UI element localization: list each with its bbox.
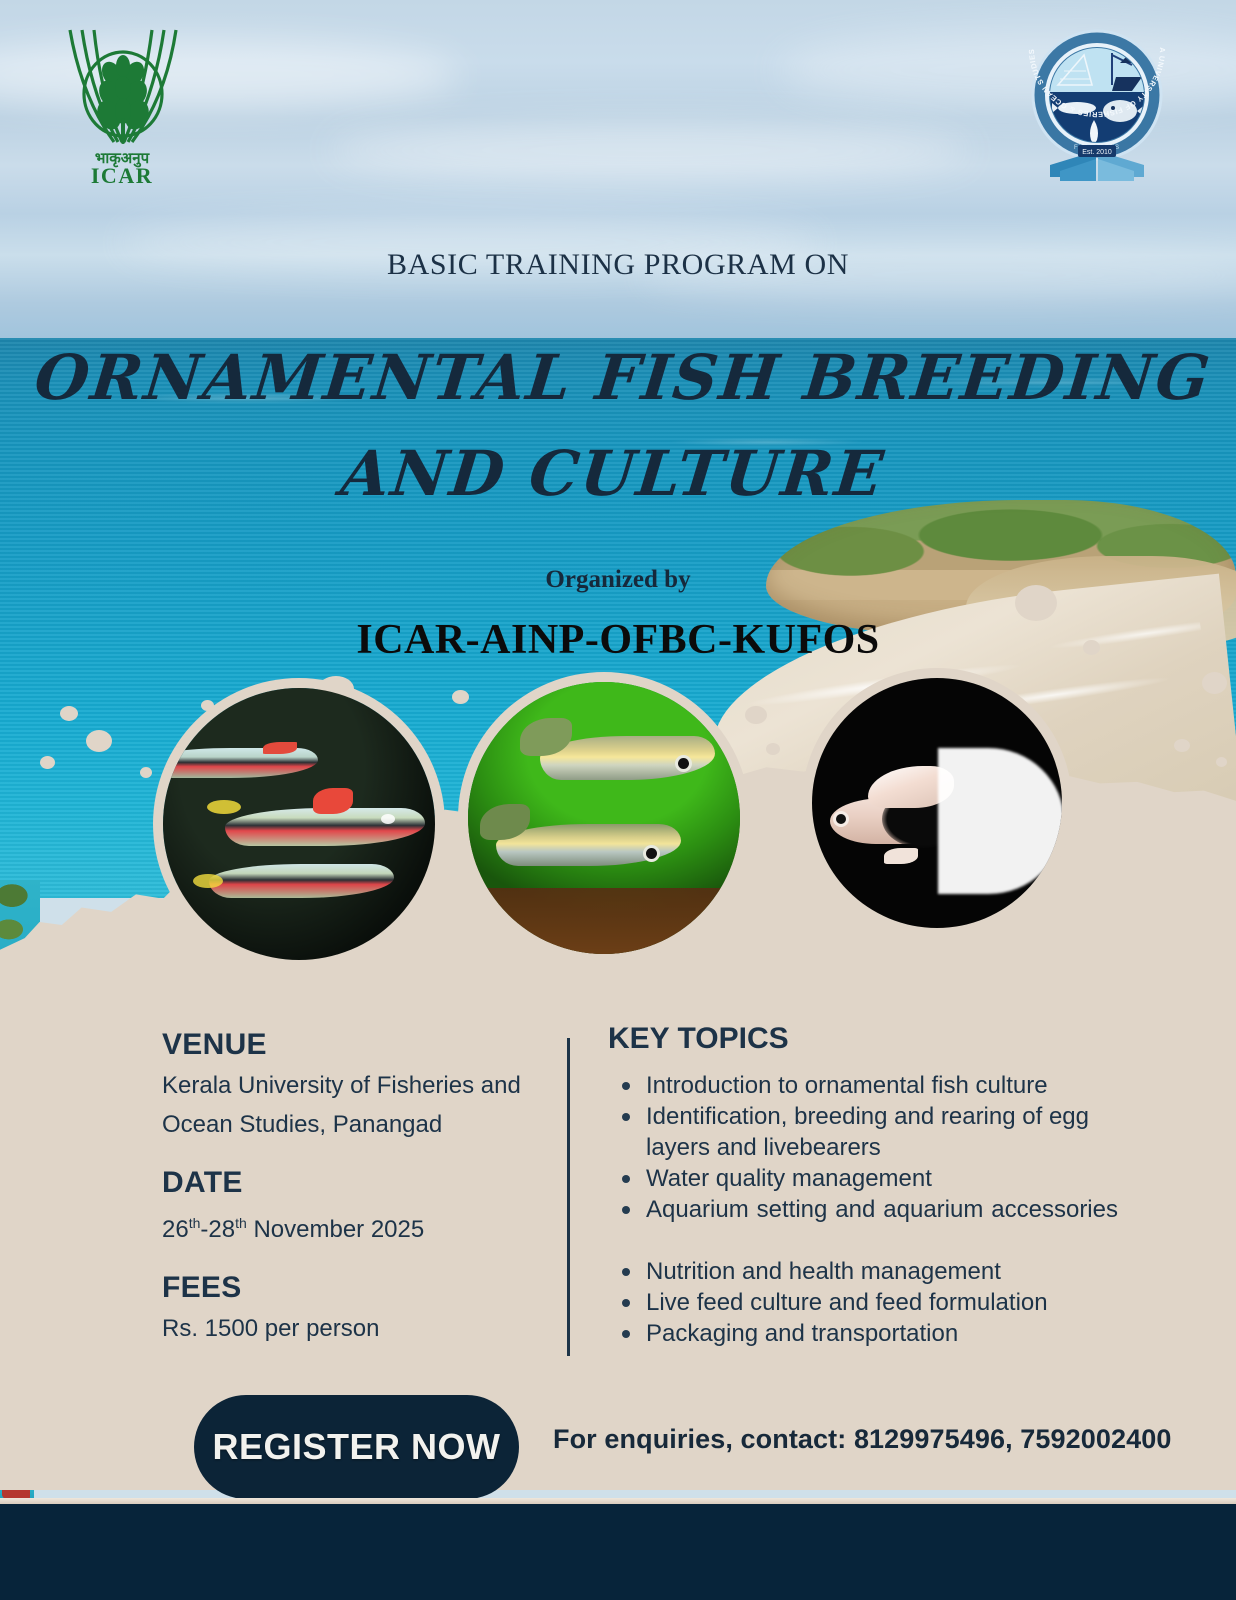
date-label: DATE	[162, 1166, 542, 1200]
paint-splatter-dot	[766, 743, 780, 755]
list-item: Aquarium setting and aquarium accessorie…	[608, 1194, 1118, 1256]
paint-splatter-dot	[1216, 757, 1227, 767]
paint-splatter-dot	[1174, 739, 1190, 752]
date-sup-start: th	[189, 1215, 201, 1231]
key-topics-title: KEY TOPICS	[608, 1022, 1118, 1056]
venue-label: VENUE	[162, 1028, 542, 1062]
key-topics-section: KEY TOPICS Introduction to ornamental fi…	[608, 1022, 1118, 1349]
list-item: Live feed culture and feed formulation	[608, 1287, 1118, 1318]
icar-acronym: ICAR	[91, 163, 153, 187]
bullet-icon	[622, 1175, 630, 1183]
venue-line-1: Kerala University of Fisheries and	[162, 1066, 542, 1105]
program-kicker: BASIC TRAINING PROGRAM ON	[0, 248, 1236, 282]
topic-text: Packaging and transportation	[646, 1320, 958, 1347]
title-line-1: ORNAMENTAL FISH BREEDING	[0, 330, 1236, 426]
list-item: Introduction to ornamental fish culture	[608, 1070, 1118, 1101]
bullet-icon	[622, 1299, 630, 1307]
paint-splatter-dot	[86, 730, 112, 752]
register-now-button[interactable]: REGISTER NOW	[194, 1395, 519, 1499]
paint-splatter-dot	[140, 767, 152, 778]
paint-splatter-dot	[60, 706, 78, 721]
page-title: ORNAMENTAL FISH BREEDING AND CULTURE	[0, 330, 1236, 522]
bullet-icon	[622, 1206, 630, 1214]
venue-value: Kerala University of Fisheries and Ocean…	[162, 1066, 542, 1144]
bullet-icon	[622, 1082, 630, 1090]
list-item: Water quality management	[608, 1163, 1118, 1194]
column-divider	[567, 1038, 570, 1356]
list-item: Identification, breeding and rearing of …	[608, 1101, 1118, 1163]
icar-logo: भाकृअनुप ICAR	[60, 22, 185, 187]
paint-splatter-dot	[745, 706, 767, 724]
footer-bar	[0, 1504, 1236, 1600]
enquiry-contact-text: For enquiries, contact: 8129975496, 7592…	[553, 1424, 1171, 1455]
topic-text: Identification, breeding and rearing of …	[646, 1103, 1089, 1161]
key-topics-list: Introduction to ornamental fish culture …	[608, 1070, 1118, 1349]
fish-photo-denison-barb	[163, 688, 435, 960]
bullet-icon	[622, 1330, 630, 1338]
topic-text: Water quality management	[646, 1165, 932, 1192]
topic-text: Aquarium setting and aquarium accessorie…	[646, 1194, 1118, 1256]
kufos-established: Est. 2010	[1082, 149, 1112, 156]
list-item: Packaging and transportation	[608, 1318, 1118, 1349]
organized-by-label: Organized by	[0, 566, 1236, 594]
paint-splatter-dot	[40, 756, 55, 769]
cloud	[330, 120, 970, 180]
fish-photo-guppy	[812, 678, 1062, 928]
fish-photo-white-cloud-minnow	[468, 682, 740, 954]
date-day-end: 28	[208, 1216, 235, 1243]
kufos-logo: KERALA UNIVERSITY OF FISHERIES & OCEAN S…	[1020, 25, 1175, 185]
paint-splatter-dot	[1202, 672, 1227, 694]
title-line-2: AND CULTURE	[0, 426, 1236, 522]
topic-text: Nutrition and health management	[646, 1258, 1001, 1285]
organizer-name: ICAR-AINP-OFBC-KUFOS	[0, 616, 1236, 664]
fees-label: FEES	[162, 1271, 542, 1305]
bullet-icon	[622, 1113, 630, 1121]
list-item: Nutrition and health management	[608, 1256, 1118, 1287]
date-sup-end: th	[235, 1215, 247, 1231]
date-month-year: November 2025	[247, 1216, 424, 1243]
topic-text: Live feed culture and feed formulation	[646, 1289, 1048, 1316]
topic-text: Introduction to ornamental fish culture	[646, 1072, 1048, 1099]
date-value: 26th-28th November 2025	[162, 1204, 542, 1249]
bullet-icon	[622, 1268, 630, 1276]
event-details: VENUE Kerala University of Fisheries and…	[162, 1028, 542, 1348]
fees-value: Rs. 1500 per person	[162, 1309, 542, 1348]
paint-splatter-dot	[452, 690, 469, 704]
venue-line-2: Ocean Studies, Panangad	[162, 1105, 542, 1144]
date-day-start: 26	[162, 1216, 189, 1243]
poster-root: भाकृअनुप ICAR	[0, 0, 1236, 1600]
